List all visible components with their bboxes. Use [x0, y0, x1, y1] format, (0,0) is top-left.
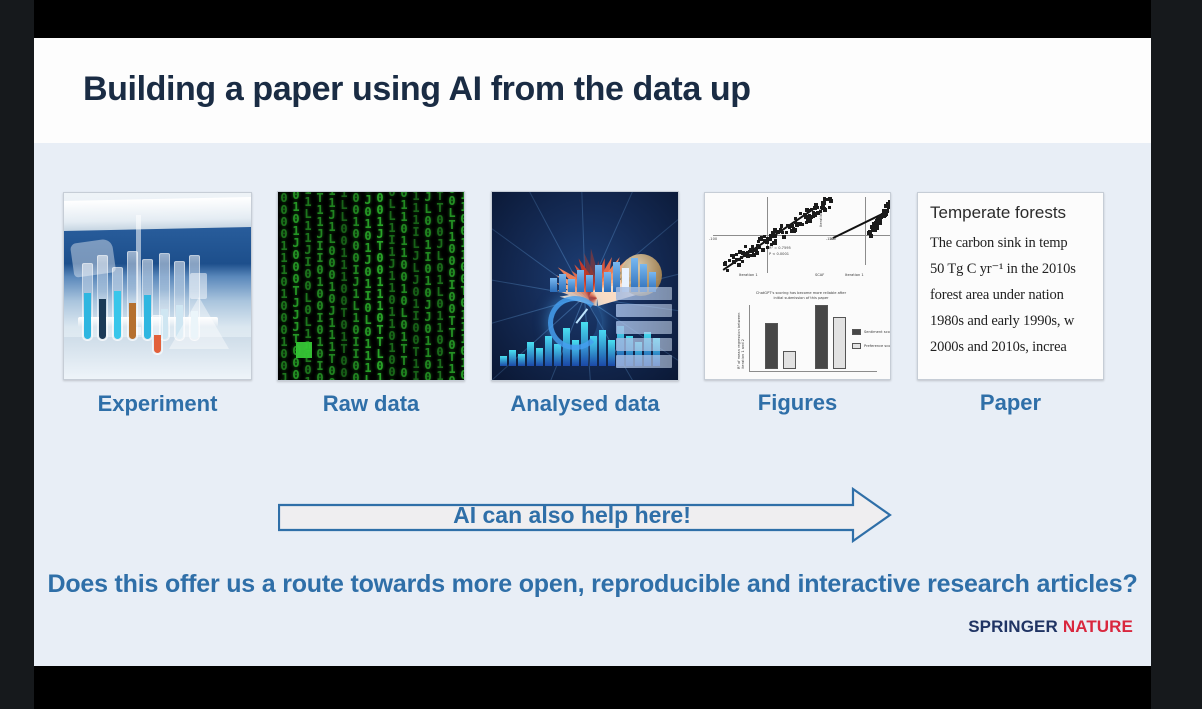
scatter-point	[750, 254, 753, 257]
scatter-point	[819, 210, 822, 213]
matrix-column: 0 L 1 1 L 1 1 J I 0 0 L 0 L 1 1 L 0 1	[302, 192, 314, 380]
scatter-point	[813, 206, 817, 210]
thumbnail-raw-data[interactable]: L 1 0 0 0 0 1 1 1 0 1 0 0 0 1 0 0 J T 0 …	[277, 191, 465, 381]
bar	[500, 356, 507, 366]
bar	[559, 274, 566, 292]
scatter-point	[871, 226, 875, 230]
scatter-point	[868, 230, 872, 234]
matrix-column: 0 1 1 J L 0 0 1 I 0 1 0 J J 0 1 1 0 0	[422, 192, 434, 380]
paper-body-line: The carbon sink in temp	[930, 235, 1103, 252]
matrix-rain: L 1 0 0 0 0 1 1 1 0 1 0 0 0 1 0 0 J T 0 …	[278, 192, 464, 380]
scatter-point	[825, 198, 828, 201]
bar-chart-yaxis	[749, 305, 750, 371]
matrix-column: 1 0 L L 1 I 1 J 1 1 0 1 1 0 1 0 0 0 0	[386, 192, 398, 380]
legend-label-sentiment: Sentiment score	[864, 330, 891, 334]
bar	[608, 340, 615, 366]
scatter-b-yaxis	[865, 197, 866, 265]
scatter-point	[785, 231, 788, 234]
scatter-point	[726, 269, 729, 272]
scatter-point	[829, 199, 833, 203]
screen: Building a paper using AI from the data …	[0, 0, 1202, 709]
bar	[550, 278, 557, 292]
scatter-point	[808, 214, 811, 217]
thumbnail-experiment[interactable]	[63, 192, 252, 380]
scatter-point	[823, 202, 826, 205]
scatter-point	[777, 231, 780, 234]
presentation-slide: Building a paper using AI from the data …	[34, 38, 1151, 666]
scatter-point	[749, 248, 752, 251]
scatter-point	[828, 206, 831, 209]
scatter-b-tick: -100	[826, 237, 834, 241]
scatter-point	[755, 251, 759, 255]
test-tube	[127, 251, 138, 341]
letterbox-bottom	[34, 666, 1151, 709]
scatter-point	[728, 259, 731, 262]
test-tube	[97, 255, 108, 341]
scatter-point	[773, 234, 777, 238]
scatter-point	[757, 240, 760, 243]
scatter-point	[814, 214, 817, 217]
thumbnail-analysed-data[interactable]	[491, 191, 679, 381]
scatter-point	[798, 222, 802, 226]
page-title: Building a paper using AI from the data …	[83, 70, 751, 109]
arrow-label: AI can also help here!	[278, 487, 892, 543]
figures-panel: -100 100 R² = 0.7595 P < 0.0001 Iteratio…	[705, 193, 890, 379]
test-tube	[82, 263, 93, 341]
matrix-column: L 0 0 0 1 J T 0 0 1 1 1 0 T T L 0 1 J	[374, 192, 386, 380]
panel-stack	[616, 287, 672, 372]
springer-nature-logo: SPRINGERNATURE	[968, 617, 1133, 637]
bar-chart-xaxis	[749, 371, 877, 372]
scatter-point	[774, 239, 777, 242]
scatter-point	[766, 241, 769, 244]
scatter-a-xlabel: Iteration 1	[739, 273, 758, 277]
scatter-point	[737, 263, 741, 267]
scatter-point	[761, 248, 765, 252]
scatter-point	[768, 237, 772, 241]
scatter-point	[738, 258, 741, 261]
bar	[599, 330, 606, 366]
test-tube	[112, 267, 123, 341]
thumbnail-paper[interactable]: Temperate forests The carbon sink in tem…	[917, 192, 1104, 380]
matrix-column: 0 1 0 1 J 0 0 0 T J J J T 0 0 0 I 0 1	[290, 192, 302, 380]
paper-heading: Temperate forests	[930, 203, 1103, 223]
closing-question: Does this offer us a route towards more …	[34, 570, 1151, 599]
lab-shelf	[64, 197, 251, 231]
matrix-column: 1 T 1 1 J I I 0 1 0 0 I 0 1 0 I 0 1 T	[314, 192, 326, 380]
scatter-a-yaxis	[767, 197, 768, 273]
bar	[554, 344, 561, 366]
scatter-point	[812, 211, 815, 214]
matrix-column: 0 T 0 0 0 1 0 0 0 I J 1 L 1 0 I I 0 0	[350, 192, 362, 380]
matrix-column: 0 1 1 0 1 1 0 0 1 0 L 0 1 T T 0 1 0 T	[398, 192, 410, 380]
scatter-point	[799, 212, 802, 215]
scatter-point	[756, 244, 759, 247]
scatter-a-r2: R² = 0.7595	[769, 246, 791, 250]
matrix-column: 1 1 1 I L J L J 0 1 I 0 0 T 1 I 0 0 1	[410, 192, 422, 380]
scatter-point	[746, 251, 749, 254]
logo-nature-text: NATURE	[1063, 617, 1133, 636]
scatter-point	[723, 262, 727, 266]
scatter-point	[735, 253, 738, 256]
radial-gauge	[548, 296, 602, 350]
journal-article-preview: Temperate forests The carbon sink in tem…	[918, 193, 1103, 379]
pipeline-label-paper: Paper	[917, 390, 1104, 416]
scatter-b-corner-label: SCAF	[815, 273, 824, 277]
flask-neck	[190, 273, 207, 299]
legend-label-preference: Preference score	[864, 344, 891, 348]
microscope-shape	[70, 238, 116, 278]
pipeline-label-raw-data: Raw data	[277, 391, 465, 417]
bar	[586, 275, 593, 292]
scatter-point	[886, 202, 890, 206]
bar	[568, 279, 575, 292]
paper-body-line: 1980s and early 1990s, w	[930, 313, 1103, 330]
matrix-column: 1 1 L L 0 0 1 1 1 0 0 T 0 1 T 0 0 0 L	[338, 192, 350, 380]
scatter-point	[878, 221, 882, 225]
lab-photo	[64, 193, 251, 379]
bar	[604, 272, 611, 292]
scatter-point	[808, 219, 812, 223]
scatter-point	[746, 255, 749, 258]
bar-chart-title: ChatGPT's scoring has become more reliab…	[751, 291, 851, 301]
scatter-point	[881, 213, 885, 217]
scatter-point	[794, 221, 797, 224]
pipeline-label-experiment: Experiment	[63, 391, 252, 417]
scatter-point	[794, 217, 797, 220]
bar	[527, 342, 534, 366]
scatter-a-tick-left: -100	[709, 237, 717, 241]
bar	[577, 270, 584, 292]
matrix-column: 0 0 1 1 J 1 L 0 0 0 1 0 J 1 1 1 T 0 0	[326, 192, 338, 380]
scatter-a-pvalue: P < 0.0001	[769, 252, 789, 256]
scatter-point	[744, 245, 747, 248]
scatter-point	[869, 234, 873, 238]
thumbnail-figures[interactable]: -100 100 R² = 0.7595 P < 0.0001 Iteratio…	[704, 192, 891, 380]
matrix-column: L 1 0 0 0 0 1 1 1 0 1 0 0 0 1 0 0 J T	[278, 192, 290, 380]
scatter-b-xlabel: Iteration 1	[845, 273, 864, 277]
scatter-point	[738, 250, 742, 254]
bar-sentiment-1	[765, 323, 778, 369]
paper-body-line: 2000s and 2010s, increa	[930, 339, 1103, 356]
bar	[518, 354, 525, 366]
slide-content: Experiment L 1 0 0 0 0 1 1 1 0 1 0 0 0 1…	[34, 143, 1151, 666]
bar	[536, 348, 543, 366]
paper-body-line: forest area under nation	[930, 287, 1103, 304]
scatter-point	[732, 260, 736, 264]
scatter-point	[793, 228, 797, 232]
matrix-column: 0 0 0 L T 1 0 0 0 I 0 0 T T 0 T 1 0 1	[446, 192, 458, 380]
scatter-point	[823, 207, 826, 210]
bar-sentiment-2	[815, 305, 828, 369]
logo-springer-text: SPRINGER	[968, 617, 1058, 636]
letterbox-top	[34, 0, 1151, 38]
scatter-point	[770, 243, 773, 246]
erlenmeyer-flask	[169, 297, 229, 349]
pipeline-label-figures: Figures	[704, 390, 891, 416]
matrix-column: 1 I 1 1 0 0 1 1 0 0 T 0 1 1 1 0 1 0 1	[458, 192, 464, 380]
scatter-point	[782, 235, 786, 239]
data-infographic	[492, 192, 678, 380]
matrix-column: 1 T T 0 0 J L 0 1 L 0 1 1 0 0 1 1 0 1	[434, 192, 446, 380]
legend-swatch-preference	[852, 343, 861, 349]
legend-swatch-sentiment	[852, 329, 861, 335]
ai-help-arrow[interactable]: AI can also help here!	[278, 487, 892, 543]
bar	[509, 350, 516, 366]
scatter-point	[766, 246, 769, 249]
bar	[545, 336, 552, 366]
dropper-tube	[152, 315, 163, 355]
bar	[595, 265, 602, 292]
scatter-point	[741, 260, 744, 263]
pipeline-label-analysed-data: Analysed data	[491, 391, 679, 417]
paper-body-line: 50 Tg C yr⁻¹ in the 2010s	[930, 261, 1103, 278]
bar-preference-2	[833, 317, 846, 369]
bar-preference-1	[783, 351, 796, 369]
matrix-column: 1 J 0 1 0 1 J 0 1 I 0 L 0 1 1 1 L I 0	[362, 192, 374, 380]
bar-chart-ylabel: R² of mean regression between iteration …	[737, 307, 746, 369]
